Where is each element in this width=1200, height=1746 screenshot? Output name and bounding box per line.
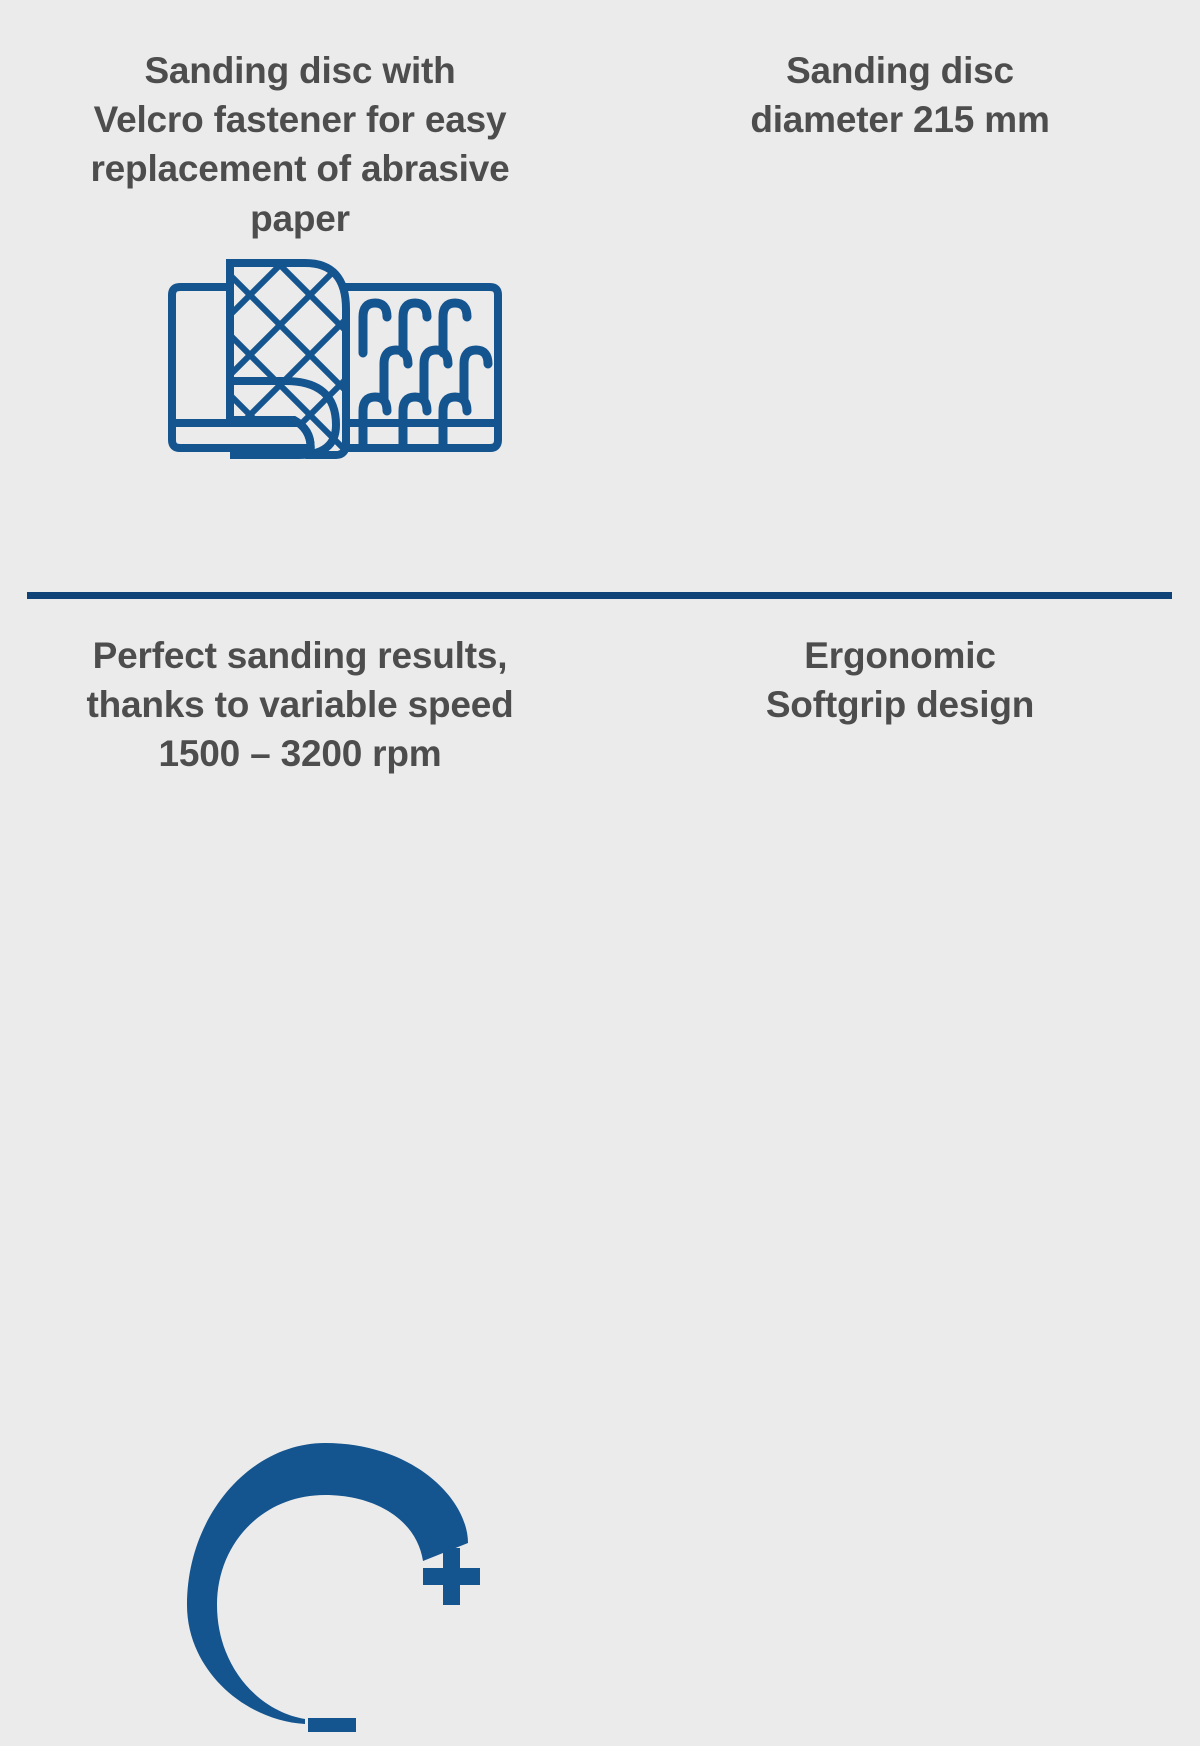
panel-softgrip: Ergonomic Softgrip design: [600, 596, 1200, 1200]
panel-sanding-disc-diameter: Sanding disc diameter 215 mm: [600, 0, 1200, 596]
variable-speed-dial-icon: [165, 1421, 495, 1746]
speed-minus-icon: [308, 1718, 356, 1732]
panel-title-speed: Perfect sanding results, thanks to varia…: [40, 631, 560, 779]
velcro-fastener-icon: [160, 255, 505, 560]
panel-title-diameter: Sanding disc diameter 215 mm: [670, 46, 1130, 144]
panel-variable-speed: Perfect sanding results, thanks to varia…: [0, 596, 600, 1200]
panel-title-softgrip: Ergonomic Softgrip design: [660, 631, 1140, 729]
panel-velcro: Sanding disc with Velcro fastener for ea…: [0, 0, 600, 596]
feature-grid: Sanding disc with Velcro fastener for ea…: [0, 0, 1200, 1200]
panel-title-velcro: Sanding disc with Velcro fastener for ea…: [50, 46, 550, 243]
section-divider: [27, 592, 1172, 599]
feature-infographic: Sanding disc with Velcro fastener for ea…: [0, 0, 1200, 1200]
